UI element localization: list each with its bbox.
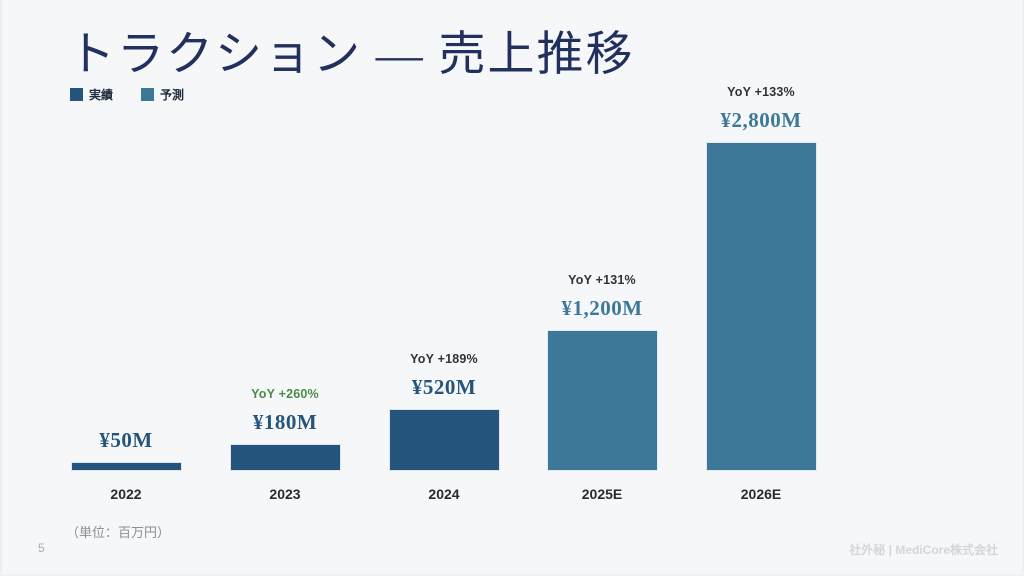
value-label-2024: ¥520M	[412, 375, 476, 400]
footer-confidential-label: 社外秘 | MediCore株式会社	[849, 541, 998, 558]
page-number: 5	[38, 541, 45, 555]
legend-swatch-actual	[70, 88, 83, 101]
yoy-label-2024: YoY +189%	[410, 352, 478, 366]
bar-2022[interactable]	[71, 462, 182, 471]
category-label-2023: 2023	[206, 486, 364, 502]
value-label-2023: ¥180M	[253, 410, 317, 435]
category-label-2025e: 2025E	[523, 486, 681, 502]
value-label-2026e: ¥2,800M	[720, 108, 801, 133]
slide-canvas: トラクション — 売上推移 実績 予測 ¥50M2022YoY +260%¥18…	[0, 0, 1024, 576]
chart-legend: 実績 予測	[70, 86, 184, 103]
bar-group-2025e: YoY +131%¥1,200M	[523, 273, 681, 471]
legend-item-actual[interactable]: 実績	[70, 86, 113, 103]
legend-label-forecast: 予測	[160, 86, 184, 103]
legend-swatch-forecast	[141, 88, 154, 101]
yoy-label-2025e: YoY +131%	[568, 273, 636, 287]
yoy-label-2023: YoY +260%	[251, 387, 319, 401]
legend-label-actual: 実績	[89, 86, 113, 103]
category-label-2026e: 2026E	[682, 486, 840, 502]
category-label-2022: 2022	[47, 486, 205, 502]
bar-group-2024: YoY +189%¥520M	[365, 352, 523, 471]
bar-group-2023: YoY +260%¥180M	[206, 387, 364, 471]
value-label-2022: ¥50M	[99, 428, 152, 453]
bar-2024[interactable]	[389, 409, 500, 471]
bar-2025e[interactable]	[547, 330, 658, 471]
bar-2026e[interactable]	[706, 142, 817, 471]
bar-2023[interactable]	[230, 444, 341, 471]
legend-item-forecast[interactable]: 予測	[141, 86, 184, 103]
value-label-2025e: ¥1,200M	[561, 296, 642, 321]
unit-note: （単位：百万円）	[66, 522, 170, 541]
bar-group-2022: ¥50M	[47, 428, 205, 471]
yoy-label-2026e: YoY +133%	[727, 85, 795, 99]
bar-group-2026e: YoY +133%¥2,800M	[682, 85, 840, 471]
category-label-2024: 2024	[365, 486, 523, 502]
